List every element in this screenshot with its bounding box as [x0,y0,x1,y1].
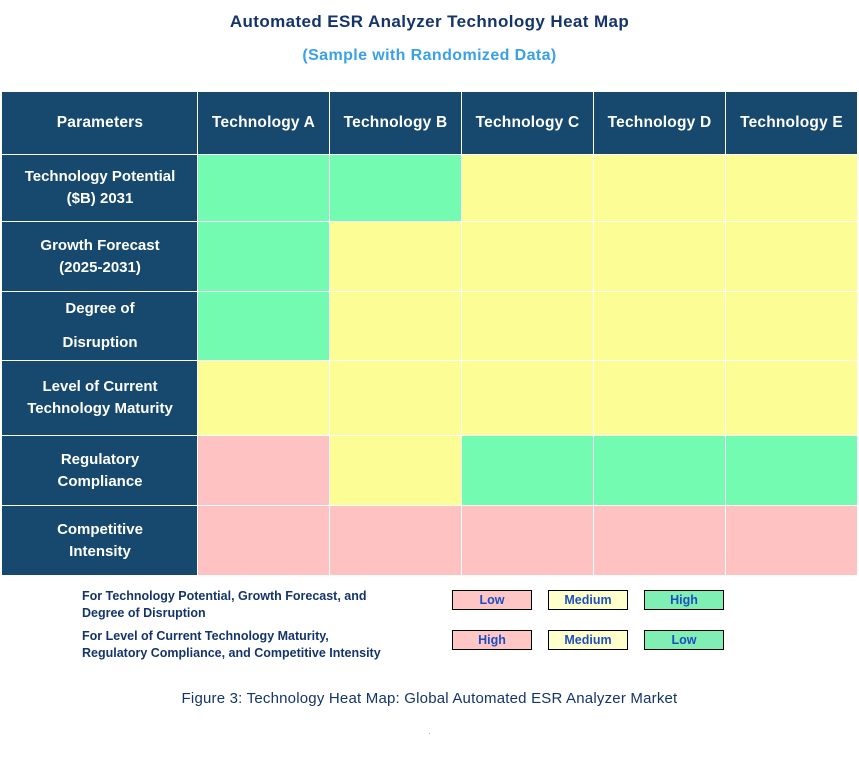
row-label-competitive-intensity: Competitive Intensity [3,506,198,576]
heatmap-cell-r1c3 [462,155,594,222]
row-label-degree-of-disruption: Degree of Disruption [3,292,198,361]
heatmap-cell-r2c5 [726,222,858,292]
heatmap-cell-r5c1 [198,436,330,506]
table-row: Growth Forecast (2025-2031) [3,222,858,292]
heatmap-cell-r2c3 [462,222,594,292]
heatmap-cell-r4c5 [726,361,858,436]
legend-group-2: For Level of Current Technology Maturity… [0,626,859,666]
legend: For Technology Potential, Growth Forecas… [0,586,859,666]
column-header-technology-c: Technology C [462,92,594,155]
heatmap-cell-r4c4 [594,361,726,436]
heatmap-cell-r3c1 [198,292,330,361]
heatmap-cell-r1c2 [330,155,462,222]
heatmap-body: Technology Potential ($B) 2031 Growth Fo… [3,155,858,576]
legend-description-line-2: Regulatory Compliance, and Competitive I… [82,646,381,660]
heatmap-cell-r2c4 [594,222,726,292]
column-header-parameters: Parameters [3,92,198,155]
row-label-line-1: Regulatory [61,451,139,468]
heatmap-cell-r3c5 [726,292,858,361]
row-label-line-1: Degree of [65,300,134,317]
heatmap-cell-r1c1 [198,155,330,222]
row-label-line-2: Intensity [69,543,131,560]
caption-trailing-mark: . [0,726,859,736]
column-header-technology-a: Technology A [198,92,330,155]
header-row: Parameters Technology A Technology B Tec… [3,92,858,155]
figure-caption: Figure 3: Technology Heat Map: Global Au… [0,690,859,707]
heatmap-cell-r2c2 [330,222,462,292]
heatmap-cell-r5c3 [462,436,594,506]
row-label-line-1: Growth Forecast [40,237,159,254]
heatmap-cell-r3c2 [330,292,462,361]
row-label-line-2: ($B) 2031 [67,190,134,207]
table-row: Technology Potential ($B) 2031 [3,155,858,222]
column-header-technology-e: Technology E [726,92,858,155]
legend-description-line-1: For Technology Potential, Growth Forecas… [82,589,367,603]
heatmap-cell-r2c1 [198,222,330,292]
legend-swatch-medium-2: Medium [548,630,628,650]
legend-swatch-high-1: High [644,590,724,610]
row-label-line-1: Technology Potential [25,168,176,185]
legend-swatches-2: High Medium Low [452,626,724,650]
row-label-line-1: Competitive [57,521,143,538]
row-label-technology-potential: Technology Potential ($B) 2031 [3,155,198,222]
heatmap-cell-r5c4 [594,436,726,506]
heatmap-cell-r1c4 [594,155,726,222]
table-row: Regulatory Compliance [3,436,858,506]
heatmap-cell-r4c3 [462,361,594,436]
title-block: Automated ESR Analyzer Technology Heat M… [0,0,859,66]
heatmap-cell-r4c1 [198,361,330,436]
page-subtitle: (Sample with Randomized Data) [0,46,859,66]
heatmap-cell-r1c5 [726,155,858,222]
legend-description-2: For Level of Current Technology Maturity… [82,626,452,662]
page-title: Automated ESR Analyzer Technology Heat M… [0,11,859,33]
table-row: Competitive Intensity [3,506,858,576]
legend-swatch-medium-1: Medium [548,590,628,610]
heatmap-cell-r6c4 [594,506,726,576]
table-row: Level of Current Technology Maturity [3,361,858,436]
row-label-level-of-current-technology-maturity: Level of Current Technology Maturity [3,361,198,436]
legend-group-1: For Technology Potential, Growth Forecas… [0,586,859,626]
row-label-line-2: (2025-2031) [59,259,141,276]
row-label-line-2: Disruption [63,334,138,351]
heatmap-cell-r5c5 [726,436,858,506]
heatmap-cell-r3c3 [462,292,594,361]
row-label-regulatory-compliance: Regulatory Compliance [3,436,198,506]
row-label-line-2: Compliance [57,473,142,490]
legend-swatch-low-2: Low [644,630,724,650]
heatmap-cell-r5c2 [330,436,462,506]
heatmap-header: Parameters Technology A Technology B Tec… [3,92,858,155]
heatmap-cell-r3c4 [594,292,726,361]
row-label-growth-forecast: Growth Forecast (2025-2031) [3,222,198,292]
legend-swatch-low-1: Low [452,590,532,610]
heatmap-table: Parameters Technology A Technology B Tec… [2,91,858,576]
heatmap-cell-r6c5 [726,506,858,576]
column-header-technology-b: Technology B [330,92,462,155]
heatmap-cell-r6c3 [462,506,594,576]
legend-description-line-1: For Level of Current Technology Maturity… [82,629,329,643]
legend-swatch-high-2: High [452,630,532,650]
row-label-line-2: Technology Maturity [27,400,173,417]
heatmap-cell-r6c1 [198,506,330,576]
row-label-line-1: Level of Current [42,378,157,395]
table-row: Degree of Disruption [3,292,858,361]
heatmap-container: Parameters Technology A Technology B Tec… [2,91,857,576]
heatmap-cell-r6c2 [330,506,462,576]
legend-swatches-1: Low Medium High [452,586,724,610]
legend-description-1: For Technology Potential, Growth Forecas… [82,586,452,622]
heatmap-cell-r4c2 [330,361,462,436]
column-header-technology-d: Technology D [594,92,726,155]
legend-description-line-2: Degree of Disruption [82,606,206,620]
